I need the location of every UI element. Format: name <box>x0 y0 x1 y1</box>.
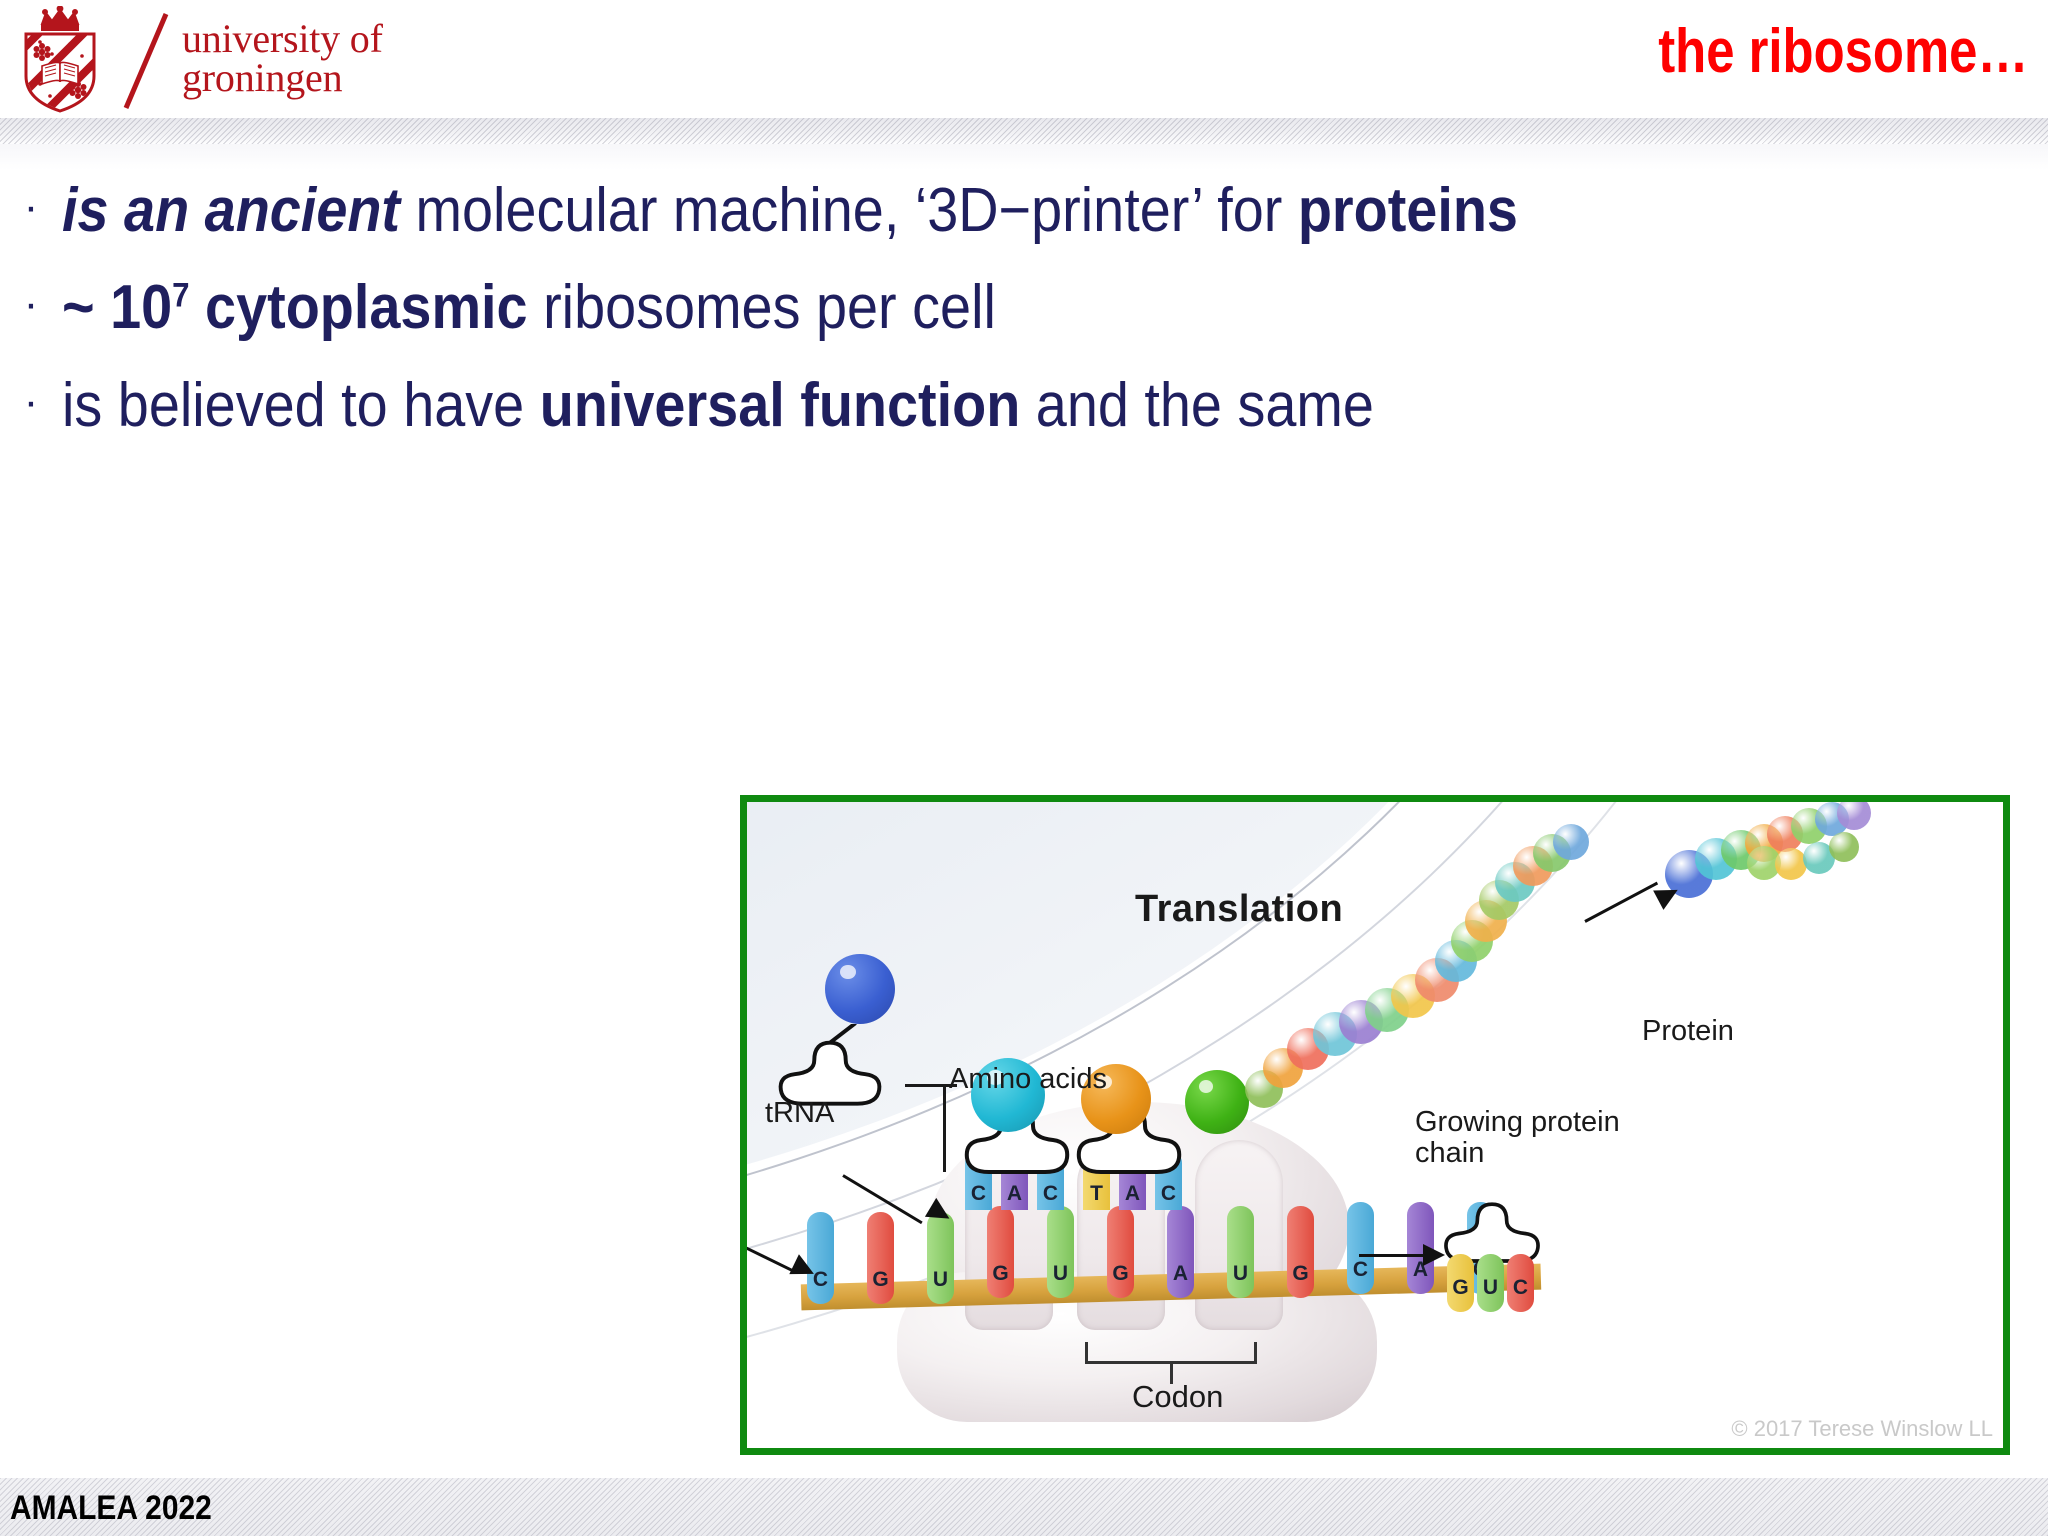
university-wordmark: university of groningen <box>182 19 383 101</box>
wordmark-line-1: university of <box>182 19 383 58</box>
bullet-1-bold-tail: proteins <box>1298 176 1518 245</box>
label-amino-acids: Amino acids <box>949 1064 1107 1095</box>
label-protein: Protein <box>1642 1016 1734 1047</box>
mrna-base: C <box>1347 1202 1374 1294</box>
translation-diagram-canvas: Translation CGUGUGAUGCAC CACTAC GUC <box>747 802 2003 1448</box>
mrna-base: U <box>1227 1206 1254 1298</box>
bullet-marker: · <box>0 273 62 335</box>
bullet-1-emphasis: is an ancient <box>62 176 400 245</box>
university-crest-icon <box>16 6 112 114</box>
bullet-item-3: · is believed to have universal function… <box>0 371 2048 440</box>
bullet-text-3: is believed to have universal function a… <box>62 371 1374 440</box>
amino-acid-sphere-blue <box>825 954 895 1024</box>
bullet-item-2: · ~ 107 cytoplasmic ribosomes per cell <box>0 273 2048 342</box>
mrna-base: G <box>867 1212 894 1304</box>
slide-title: the ribosome… <box>1658 16 2028 87</box>
released-protein-bead <box>1837 796 1871 830</box>
bullet-3-rest: and the same <box>1020 371 1374 440</box>
bullet-3-bold-mid: universal function <box>540 371 1021 440</box>
label-codon: Codon <box>1132 1380 1223 1413</box>
translation-diagram-figure: Translation CGUGUGAUGCAC CACTAC GUC <box>740 795 2010 1455</box>
mrna-base: C <box>807 1212 834 1304</box>
bullet-list: · is an ancient molecular machine, ‘3D−p… <box>0 176 2048 468</box>
exit-trna-base: G <box>1447 1254 1474 1312</box>
bullet-1-rest: molecular machine, ‘3D−printer’ for <box>400 176 1298 245</box>
bullet-text-2: ~ 107 cytoplasmic ribosomes per cell <box>62 273 996 342</box>
header-texture-band <box>0 118 2048 144</box>
codon-bracket <box>1085 1342 1257 1364</box>
logo-slash-icon <box>118 6 176 114</box>
bullet-item-1: · is an ancient molecular machine, ‘3D−p… <box>0 176 2048 245</box>
label-trna: tRNA <box>765 1098 834 1129</box>
protein-chain-bead <box>1553 824 1589 860</box>
bullet-3-lead: is believed to have <box>62 371 540 440</box>
footer-texture-band: AMALEA 2022 <box>0 1478 2048 1536</box>
protein-release-arrow-line <box>1584 882 1658 923</box>
diagram-title: Translation <box>1135 888 1343 931</box>
header-band-fade <box>0 144 2048 170</box>
bullet-2-rest: ribosomes per cell <box>528 273 996 342</box>
bullet-2-bold-mid: cytoplasmic <box>190 273 528 342</box>
trna-exit-arrow-line <box>1359 1254 1427 1257</box>
amino-acid-sphere-green <box>1185 1070 1249 1134</box>
bullet-2-exponent: 7 <box>172 277 189 315</box>
released-protein-bead <box>1775 848 1807 880</box>
wordmark-line-2: groningen <box>182 58 383 97</box>
mrna-base: G <box>1287 1206 1314 1298</box>
released-protein-bead <box>1829 832 1859 862</box>
bullet-marker: · <box>0 176 62 238</box>
trna-exit-arrow-head <box>1423 1244 1445 1266</box>
footer-label: AMALEA 2022 <box>10 1489 212 1528</box>
exit-trna-base: U <box>1477 1254 1504 1312</box>
label-growing-chain: Growing protein chain <box>1415 1107 1620 1170</box>
slide-header: university of groningen the ribosome… <box>0 0 2048 124</box>
university-logo: university of groningen <box>16 6 383 114</box>
exit-trna-base: C <box>1507 1254 1534 1312</box>
bullet-marker: · <box>0 371 62 433</box>
amino-acids-leader-drop <box>943 1084 946 1172</box>
figure-copyright: © 2017 Terese Winslow LL <box>1731 1416 1993 1442</box>
bullet-text-1: is an ancient molecular machine, ‘3D−pri… <box>62 176 1518 245</box>
bullet-2-prefix: ~ 10 <box>62 273 172 342</box>
